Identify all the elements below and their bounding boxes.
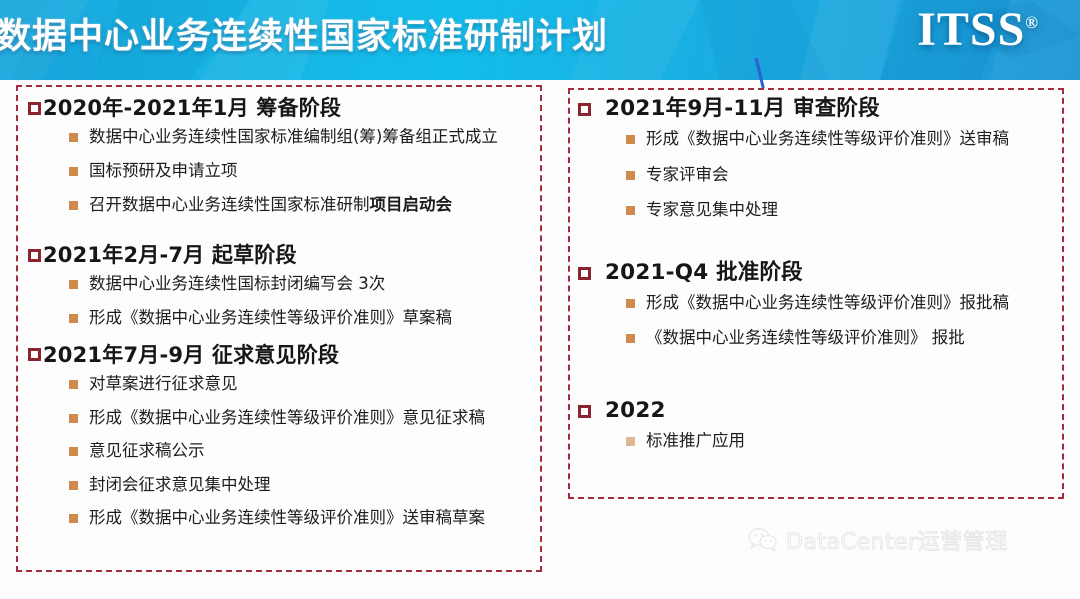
phase-block: 2021年2月-7月 起草阶段 数据中心业务连续性国标封闭编写会 3次 形成《数…	[28, 242, 533, 329]
list-item: 形成《数据中心业务连续性等级评价准则》送审稿	[626, 129, 1056, 150]
phase-title: 2020年-2021年1月 筹备阶段	[43, 95, 341, 121]
phase-header: 2021-Q4 批准阶段	[578, 260, 1056, 287]
bullet-square-icon	[69, 481, 78, 490]
list-item-label: 《数据中心业务连续性等级评价准则》 报批	[646, 328, 965, 349]
bullet-square-icon	[626, 171, 635, 180]
bullet-square-icon	[69, 380, 78, 389]
bullet-square-icon	[69, 447, 78, 456]
phase-title: 2022	[605, 398, 666, 425]
list-item-label: 形成《数据中心业务连续性等级评价准则》送审稿	[646, 129, 1009, 150]
phase-title: 2021年2月-7月 起草阶段	[43, 242, 297, 268]
list-item: 国标预研及申请立项	[69, 161, 533, 182]
bullet-square-icon	[626, 135, 635, 144]
list-item-label: 数据中心业务连续性国家标准编制组(筹)筹备组正式成立	[89, 127, 498, 148]
phase-item-list: 形成《数据中心业务连续性等级评价准则》报批稿 《数据中心业务连续性等级评价准则》…	[626, 293, 1056, 349]
list-item: 形成《数据中心业务连续性等级评价准则》草案稿	[69, 308, 533, 329]
list-item-label: 对草案进行征求意见	[89, 374, 238, 395]
square-outline-icon	[28, 348, 41, 361]
bullet-square-icon	[69, 414, 78, 423]
itss-logo-text: ITSS	[917, 3, 1025, 56]
spacer	[578, 364, 1056, 398]
phase-block: 2021-Q4 批准阶段 形成《数据中心业务连续性等级评价准则》报批稿 《数据中…	[578, 260, 1056, 349]
list-item: 意见征求稿公示	[69, 441, 533, 462]
list-item-label: 专家意见集中处理	[646, 200, 778, 221]
list-item: 《数据中心业务连续性等级评价准则》 报批	[626, 328, 1056, 349]
phase-header: 2021年9月-11月 审查阶段	[578, 96, 1056, 123]
square-outline-icon	[28, 102, 41, 115]
itss-logo: ITSS®	[917, 6, 1038, 54]
watermark: DataCenter运营管理	[748, 524, 1008, 556]
list-item: 形成《数据中心业务连续性等级评价准则》报批稿	[626, 293, 1056, 314]
phase-header: 2021年2月-7月 起草阶段	[28, 242, 533, 268]
list-item: 专家评审会	[626, 165, 1056, 186]
list-item: 封闭会征求意见集中处理	[69, 475, 533, 496]
phase-item-list: 数据中心业务连续性国标封闭编写会 3次 形成《数据中心业务连续性等级评价准则》草…	[69, 274, 533, 328]
list-item-label: 形成《数据中心业务连续性等级评价准则》草案稿	[89, 308, 452, 329]
list-item-label: 召开数据中心业务连续性国家标准研制项目启动会	[89, 195, 452, 216]
right-column: 2021年9月-11月 审查阶段 形成《数据中心业务连续性等级评价准则》送审稿 …	[578, 96, 1056, 466]
list-item-label: 封闭会征求意见集中处理	[89, 475, 271, 496]
phase-title: 2021年9月-11月 审查阶段	[605, 96, 880, 123]
list-item-label: 专家评审会	[646, 165, 729, 186]
watermark-label: DataCenter运营管理	[786, 524, 1008, 556]
list-item: 对草案进行征求意见	[69, 374, 533, 395]
list-item-label: 形成《数据中心业务连续性等级评价准则》意见征求稿	[89, 408, 485, 429]
spacer	[578, 236, 1056, 260]
square-outline-icon	[578, 103, 591, 116]
list-item-label: 标准推广应用	[646, 431, 745, 452]
left-column: 2020年-2021年1月 筹备阶段 数据中心业务连续性国家标准编制组(筹)筹备…	[28, 95, 533, 542]
list-item-label: 形成《数据中心业务连续性等级评价准则》送审稿草案	[89, 508, 485, 529]
bullet-square-icon	[626, 206, 635, 215]
wechat-icon	[748, 527, 778, 553]
bullet-square-icon	[69, 201, 78, 210]
phase-item-list: 数据中心业务连续性国家标准编制组(筹)筹备组正式成立 国标预研及申请立项 召开数…	[69, 127, 533, 215]
phase-title: 2021-Q4 批准阶段	[605, 260, 803, 287]
list-item: 召开数据中心业务连续性国家标准研制项目启动会	[69, 195, 533, 216]
list-item-label: 意见征求稿公示	[89, 441, 205, 462]
square-outline-icon	[578, 405, 591, 418]
phase-header: 2020年-2021年1月 筹备阶段	[28, 95, 533, 121]
list-item: 数据中心业务连续性国家标准编制组(筹)筹备组正式成立	[69, 127, 533, 148]
bullet-square-icon	[626, 437, 635, 446]
list-item: 形成《数据中心业务连续性等级评价准则》意见征求稿	[69, 408, 533, 429]
registered-trademark-icon: ®	[1025, 13, 1038, 32]
list-item-label: 国标预研及申请立项	[89, 161, 238, 182]
phase-block: 2022 标准推广应用	[578, 398, 1056, 452]
list-item-text-emphasis: 项目启动会	[370, 195, 453, 214]
slide-root: 数据中心业务连续性国家标准研制计划 ITSS® 2020年-2021年1月 筹备…	[0, 0, 1080, 599]
spacer	[28, 228, 533, 242]
bullet-square-icon	[69, 314, 78, 323]
list-item-label: 数据中心业务连续性国标封闭编写会 3次	[89, 274, 385, 295]
list-item: 形成《数据中心业务连续性等级评价准则》送审稿草案	[69, 508, 533, 529]
list-item: 数据中心业务连续性国标封闭编写会 3次	[69, 274, 533, 295]
bullet-square-icon	[69, 133, 78, 142]
square-outline-icon	[578, 267, 591, 280]
list-item: 标准推广应用	[626, 431, 1056, 452]
phase-title: 2021年7月-9月 征求意见阶段	[43, 342, 339, 368]
list-item-label: 形成《数据中心业务连续性等级评价准则》报批稿	[646, 293, 1009, 314]
list-item: 专家意见集中处理	[626, 200, 1056, 221]
phase-item-list: 对草案进行征求意见 形成《数据中心业务连续性等级评价准则》意见征求稿 意见征求稿…	[69, 374, 533, 529]
phase-header: 2021年7月-9月 征求意见阶段	[28, 342, 533, 368]
header-banner: 数据中心业务连续性国家标准研制计划 ITSS®	[0, 0, 1080, 80]
phase-item-list: 形成《数据中心业务连续性等级评价准则》送审稿 专家评审会 专家意见集中处理	[626, 129, 1056, 221]
bullet-square-icon	[69, 167, 78, 176]
phase-block: 2021年9月-11月 审查阶段 形成《数据中心业务连续性等级评价准则》送审稿 …	[578, 96, 1056, 221]
bullet-square-icon	[626, 334, 635, 343]
list-item-text-normal: 召开数据中心业务连续性国家标准研制	[89, 195, 370, 214]
phase-header: 2022	[578, 398, 1056, 425]
bullet-square-icon	[69, 280, 78, 289]
bullet-square-icon	[626, 299, 635, 308]
square-outline-icon	[28, 249, 41, 262]
phase-block: 2020年-2021年1月 筹备阶段 数据中心业务连续性国家标准编制组(筹)筹备…	[28, 95, 533, 215]
page-title: 数据中心业务连续性国家标准研制计划	[0, 8, 608, 59]
phase-block: 2021年7月-9月 征求意见阶段 对草案进行征求意见 形成《数据中心业务连续性…	[28, 342, 533, 529]
phase-item-list: 标准推广应用	[626, 431, 1056, 452]
bullet-square-icon	[69, 514, 78, 523]
